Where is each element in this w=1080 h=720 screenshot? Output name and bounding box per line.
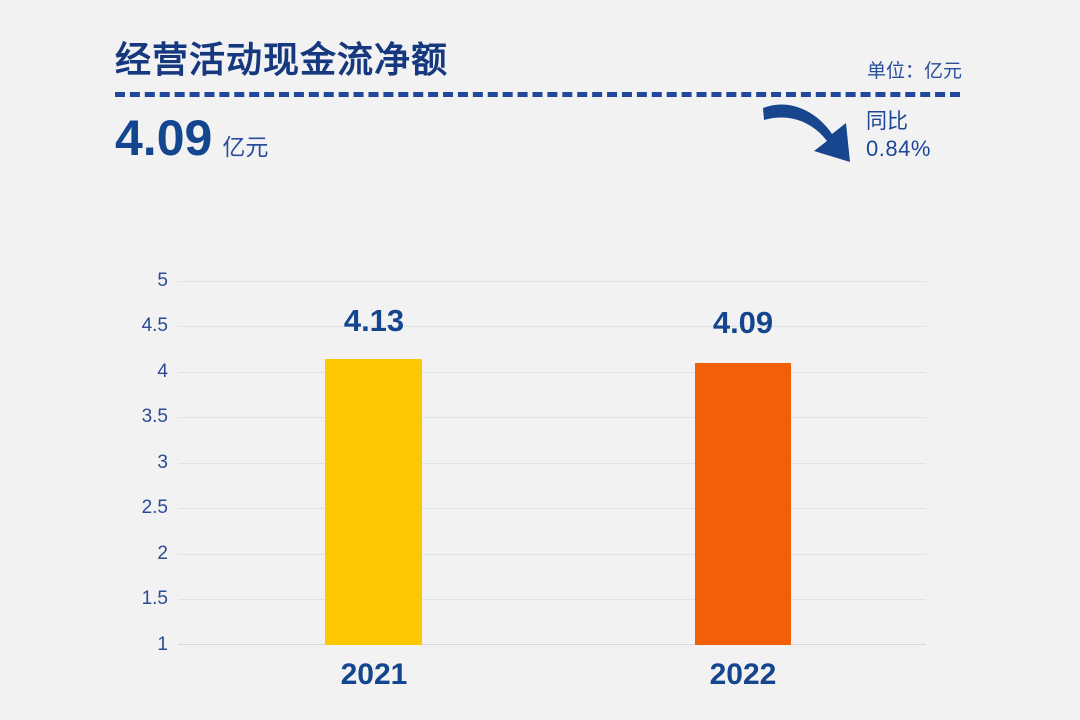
- y-tick-label: 5: [128, 270, 168, 292]
- plot-area: [178, 281, 926, 645]
- x-category-label-2021: 2021: [341, 658, 408, 692]
- gridline: [178, 463, 926, 464]
- gridline: [178, 372, 926, 373]
- bar-2022[interactable]: [695, 363, 791, 645]
- infographic-card: 经营活动现金流净额 单位：亿元 4.09 亿元 同比 0.84% 5 4.5 4…: [0, 0, 1080, 720]
- axis-baseline: [178, 644, 926, 645]
- gridline: [178, 599, 926, 600]
- bar-value-label-2022: 4.09: [713, 305, 773, 341]
- gridline: [178, 508, 926, 509]
- gridline: [178, 281, 926, 282]
- y-tick-label: 2.5: [128, 497, 168, 519]
- bar-chart: 5 4.5 4 3.5 3 2.5 2 1.5 1 4.13 4.09 2021…: [0, 0, 1080, 720]
- x-category-label-2022: 2022: [710, 658, 777, 692]
- gridline: [178, 326, 926, 327]
- y-tick-label: 3.5: [128, 406, 168, 428]
- bar-2021[interactable]: [325, 359, 422, 645]
- y-tick-label: 4.5: [128, 315, 168, 337]
- bar-value-label-2021: 4.13: [344, 303, 404, 339]
- y-tick-label: 2: [128, 543, 168, 565]
- y-tick-label: 4: [128, 361, 168, 383]
- y-tick-label: 3: [128, 452, 168, 474]
- y-tick-label: 1.5: [128, 588, 168, 610]
- gridline: [178, 554, 926, 555]
- y-tick-label: 1: [128, 634, 168, 656]
- gridline: [178, 417, 926, 418]
